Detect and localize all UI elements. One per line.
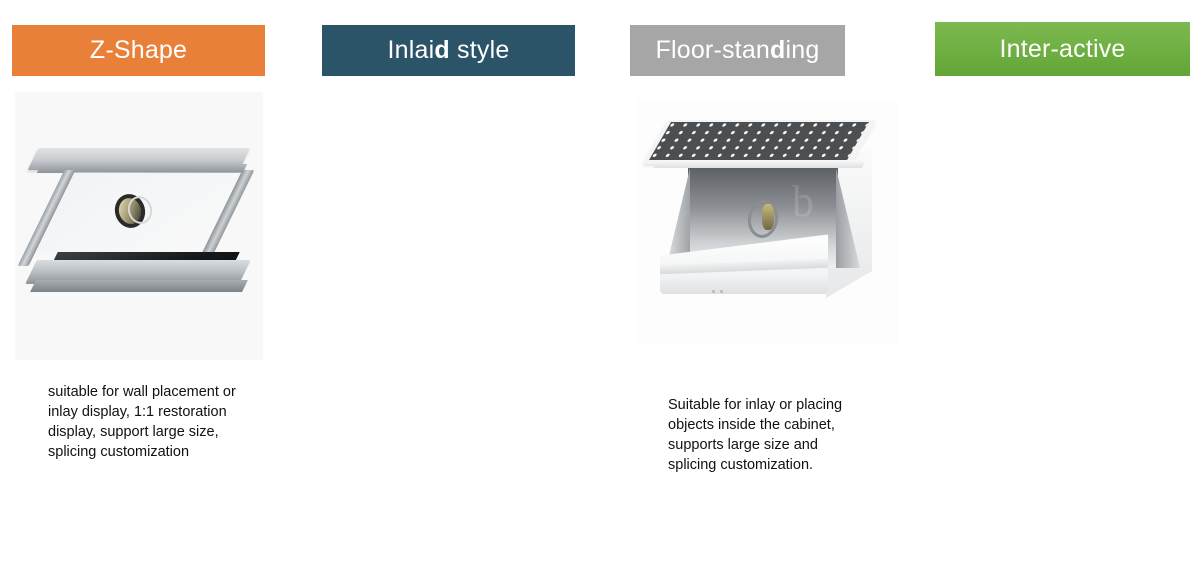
header-bar-inlaid-style: Inlaid style bbox=[322, 25, 575, 76]
product-column-inter-active: Inter-active Interactive model, more imp… bbox=[928, 0, 1203, 571]
z-shape-illustration bbox=[23, 130, 255, 320]
ring-hologram bbox=[115, 192, 149, 222]
product-column-z-shape: Z-Shape suitable for wall placement or i… bbox=[0, 0, 300, 571]
header-bar-z-shape: Z-Shape bbox=[12, 25, 265, 76]
product-comparison-grid: Z-Shape suitable for wall placement or i… bbox=[0, 0, 1203, 571]
z-base-panel-edge bbox=[30, 280, 248, 292]
header-bar-floor-standing: Floor-standing bbox=[630, 25, 845, 76]
product-caption-z-shape: suitable for wall placement or inlay dis… bbox=[48, 382, 238, 462]
header-bar-inter-active: Inter-active bbox=[935, 22, 1190, 76]
header-label-floor-standing: Floor-standing bbox=[656, 36, 820, 65]
header-label-inter-active: Inter-active bbox=[999, 35, 1125, 64]
product-column-inlaid-style: Inlaid style b Suitable for bbox=[310, 0, 610, 571]
header-label-z-shape: Z-Shape bbox=[90, 36, 187, 65]
header-label-inlaid-style: Inlaid style bbox=[388, 36, 510, 65]
product-column-floor-standing: Floor-standing combining products to cre… bbox=[620, 0, 920, 571]
product-image-z-shape bbox=[15, 92, 263, 360]
